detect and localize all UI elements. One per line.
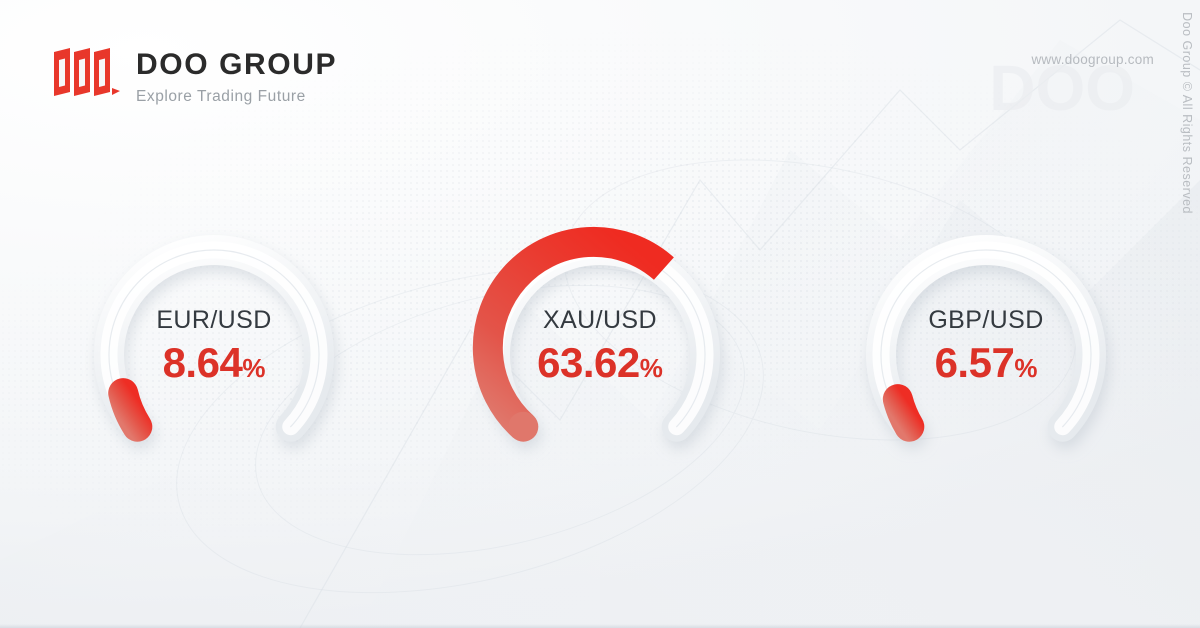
copyright-notice: Doo Group © All Rights Reserved [1180, 12, 1194, 214]
gauge-value-number: 6.57 [935, 339, 1015, 386]
gauge-value-gbpusd: 6.57% [840, 342, 1132, 384]
poster-header: DOO GROUP Explore Trading Future www.doo… [0, 0, 1200, 130]
gauge-value-percent-sign: % [1014, 353, 1037, 383]
gauge-value-percent-sign: % [242, 353, 265, 383]
gauge-group: EUR/USD 8.64% [0, 208, 1200, 480]
gauge-value-number: 8.64 [163, 339, 243, 386]
gauge-value-number: 63.62 [537, 339, 640, 386]
brand-logo-text: DOO GROUP Explore Trading Future [136, 48, 337, 105]
poster-canvas: DOO DOO GROUP Explore Trading Future [0, 0, 1200, 628]
gauge-value-percent-sign: % [640, 353, 663, 383]
gauge-card-xauusd[interactable]: XAU/USD 63.62% [454, 208, 746, 480]
brand-title: DOO GROUP [136, 50, 337, 80]
gauge-card-eurusd[interactable]: EUR/USD 8.64% [68, 208, 360, 480]
brand-logo: DOO GROUP Explore Trading Future [52, 48, 337, 105]
gauge-label-gbpusd: GBP/USD [840, 308, 1132, 333]
gauge-value-eurusd: 8.64% [68, 342, 360, 384]
gauge-label-eurusd: EUR/USD [68, 308, 360, 333]
bottom-edge-line [0, 624, 1200, 628]
site-url[interactable]: www.doogroup.com [1031, 52, 1154, 67]
brand-tagline: Explore Trading Future [136, 89, 337, 105]
gauge-card-gbpusd[interactable]: GBP/USD 6.57% [840, 208, 1132, 480]
gauge-label-xauusd: XAU/USD [454, 308, 746, 333]
doo-group-logo-mark [52, 48, 126, 100]
gauge-value-xauusd: 63.62% [454, 342, 746, 384]
